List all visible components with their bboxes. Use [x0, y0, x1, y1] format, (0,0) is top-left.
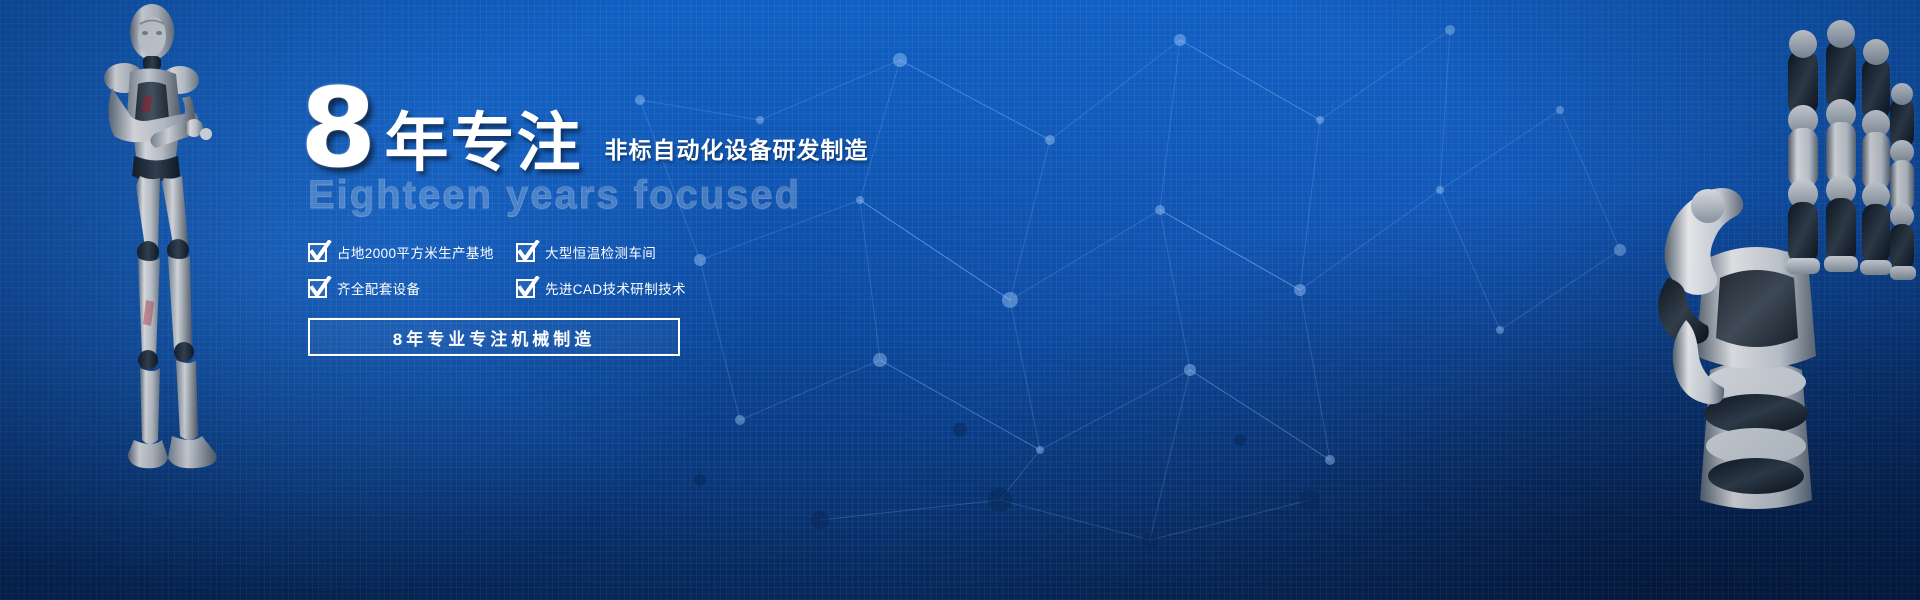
feature-item: 占地2000平方米生产基地	[308, 242, 516, 262]
feature-label: 占地2000平方米生产基地	[337, 242, 494, 262]
banner-content: 8 年专注 非标自动化设备研发制造 Eighteen years focused…	[300, 78, 1040, 356]
hero-banner: 8 年专注 非标自动化设备研发制造 Eighteen years focused…	[0, 0, 1920, 600]
subtitle-cn: 非标自动化设备研发制造	[605, 131, 869, 165]
check-icon	[308, 243, 327, 262]
feature-label: 大型恒温检测车间	[545, 242, 656, 262]
feature-item: 齐全配套设备	[308, 278, 516, 298]
headline-number: 8	[300, 78, 375, 179]
feature-item: 先进CAD技术研制技术	[516, 278, 776, 298]
check-icon	[516, 243, 535, 262]
feature-item: 大型恒温检测车间	[516, 242, 776, 262]
feature-checklist: 占地2000平方米生产基地 大型恒温检测车间 齐全配套设备 先进CAD技术研制技…	[308, 242, 1040, 298]
feature-label: 先进CAD技术研制技术	[545, 278, 686, 298]
cta-label: 8年专业专注机械制造	[393, 325, 595, 350]
feature-label: 齐全配套设备	[337, 278, 420, 298]
headline-text: 年专注	[385, 111, 583, 175]
cta-banner[interactable]: 8年专业专注机械制造	[308, 318, 680, 356]
headline: 8 年专注 非标自动化设备研发制造	[300, 78, 1040, 179]
check-icon	[516, 279, 535, 298]
ghost-english-text: Eighteen years focused	[308, 173, 1040, 218]
check-icon	[308, 279, 327, 298]
